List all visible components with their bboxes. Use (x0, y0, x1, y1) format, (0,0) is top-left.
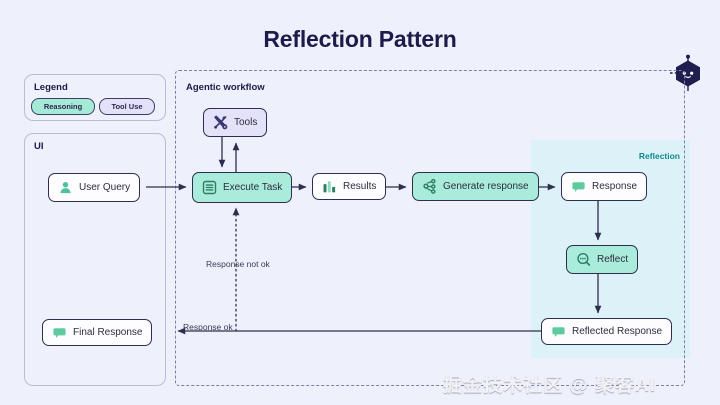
node-label: Final Response (73, 327, 142, 338)
node-label: Response (592, 181, 637, 192)
page-title: Reflection Pattern (0, 26, 720, 53)
diagram-canvas: Reflection Pattern Reflection Agentic wo… (0, 0, 720, 405)
node-graph-icon (422, 179, 437, 194)
node-label: User Query (79, 182, 130, 193)
watermark: 掘金技术社区 @ 聚客AI (443, 370, 656, 397)
node-label: Reflect (597, 254, 628, 265)
task-list-icon (202, 180, 217, 195)
node-label: Reflected Response (572, 326, 662, 337)
node-label: Tools (234, 117, 257, 128)
node-response[interactable]: Response (561, 172, 647, 201)
chat-bubble-icon (551, 324, 566, 339)
ui-panel-label: UI (34, 141, 44, 152)
user-icon (58, 180, 73, 195)
bar-chart-icon (322, 179, 337, 194)
node-label: Execute Task (223, 182, 282, 193)
ui-panel (24, 133, 166, 386)
node-reflect[interactable]: Reflect (566, 245, 638, 274)
node-final-response[interactable]: Final Response (42, 319, 152, 346)
legend-title: Legend (34, 82, 68, 93)
legend-chip-tool-use: Tool Use (99, 98, 155, 115)
chat-bubble-icon (52, 325, 67, 340)
node-execute-task[interactable]: Execute Task (192, 172, 292, 203)
legend-chip-reasoning: Reasoning (31, 98, 95, 115)
node-results[interactable]: Results (312, 173, 386, 200)
reflect-search-icon (576, 252, 591, 267)
agentic-workflow-label: Agentic workflow (186, 82, 265, 93)
chat-bubble-icon (571, 179, 586, 194)
edge-label-response-ok: Response ok (183, 322, 233, 332)
node-label: Generate response (443, 181, 529, 192)
node-label: Results (343, 181, 376, 192)
node-reflected-response[interactable]: Reflected Response (541, 318, 672, 345)
tools-icon (213, 115, 228, 130)
node-user-query[interactable]: User Query (48, 173, 140, 202)
edge-label-response-not-ok: Response not ok (206, 259, 270, 269)
node-tools[interactable]: Tools (203, 108, 267, 137)
node-generate-response[interactable]: Generate response (412, 172, 539, 201)
